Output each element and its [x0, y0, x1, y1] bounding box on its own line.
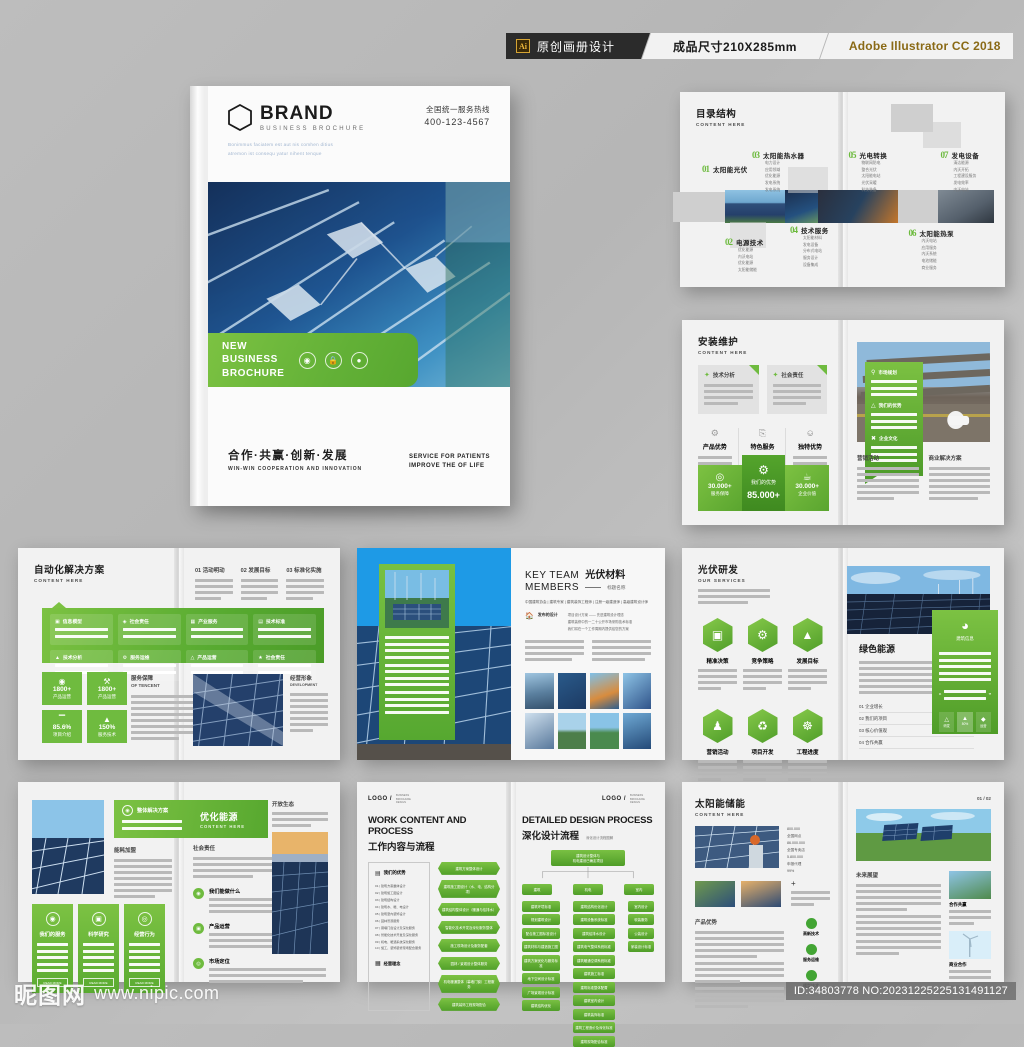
- box-icon: ▣: [55, 619, 60, 625]
- auto-stat-2: ⚒ 1800+ 产品运营: [87, 672, 127, 705]
- toc-item-03-l0: 电力设计: [765, 160, 804, 167]
- stat-2-value: 85.000+: [744, 490, 784, 500]
- toc-item-01[interactable]: 01 太阳能光伏: [702, 164, 748, 174]
- title-divider: [585, 587, 601, 588]
- auto-stat-3-caption: 项目介绍: [44, 732, 80, 738]
- process-box-footer: 经营理念: [384, 961, 401, 967]
- badge-size-label: 成品尺寸210X285mm: [673, 38, 797, 55]
- stat-box-3: ☕ 30.000+ 企业价值: [785, 465, 829, 511]
- chip-icon-3: ◆: [977, 716, 990, 723]
- optimize-right-head: 开放生态: [272, 800, 328, 808]
- process-logo-right: LOGO /: [602, 796, 626, 802]
- auto-stat-2-value: 1800+: [89, 686, 125, 693]
- install-card-1[interactable]: ✦ 技术分析: [698, 365, 759, 414]
- install-title-cn: 安装维护: [698, 334, 827, 348]
- process-box-item-2: 02 | 建筑施工图设计: [375, 890, 423, 897]
- toc-title-en: CONTENT HERE: [696, 122, 827, 127]
- flow-connectors: [522, 867, 654, 879]
- flow-c1-5[interactable]: 建筑方案优化与服务标准: [522, 955, 560, 971]
- optimize-bullet-3-label: 市场定位: [209, 958, 326, 965]
- auto-stat-1: ◉ 1800+ 产品运营: [42, 672, 82, 705]
- service-item-1-label: 精准决策: [698, 657, 737, 665]
- toc-item-02-l1: 内沃电站: [738, 254, 764, 261]
- toc-item-03[interactable]: 03 太阳能热水器 电力设计 应用领域 优化能源 发电系统 发电系统: [752, 150, 804, 193]
- auto-stat-4: ▲ 150% 服务技术: [87, 710, 127, 743]
- research-circle-icon: ▣: [92, 912, 106, 926]
- storage-stat-2-value: 86.000.000: [787, 840, 830, 847]
- process-step-3-label: 建筑结构整体设计（暖通与给排水）: [442, 908, 496, 912]
- hotline-label: 全国统一服务热线: [424, 104, 490, 115]
- flow-c2-8[interactable]: 建筑室内设计: [573, 995, 615, 1006]
- flow-c1-1[interactable]: 建筑环境标准: [522, 901, 560, 912]
- team-subtitle: 标题名称: [607, 585, 625, 591]
- leaf-icon: ✦: [704, 371, 710, 379]
- service-item-5[interactable]: ♻ 项目开发: [743, 709, 782, 784]
- team-green-panel: [379, 564, 455, 740]
- flow-branch-3[interactable]: 室内: [624, 884, 654, 895]
- flow-c2-6[interactable]: 建筑施工标准: [573, 968, 615, 979]
- toc-item-07-l0: 清洁能源: [954, 160, 980, 167]
- banner-item-1: 市场规划: [878, 370, 896, 376]
- services-title-cn: 光伏研发: [698, 562, 827, 576]
- stat-3-caption: 企业价值: [787, 491, 827, 497]
- panel-closeup-illustration: [32, 800, 104, 894]
- process-step-6[interactable]: 园林 / 景观设计整体服务: [438, 957, 500, 970]
- gear-icon-2: ⚙: [744, 463, 784, 477]
- storage-bullet-1[interactable]: 高新技术: [792, 918, 830, 937]
- flow-c2-10[interactable]: 建筑工程造价及深化标准: [573, 1022, 615, 1033]
- toc-item-05-num: 05: [849, 150, 856, 160]
- toc-item-04-l4: 设备集成: [803, 262, 829, 269]
- services-list-item-4[interactable]: 04 合作共赢: [859, 737, 974, 749]
- toc-placeholder-1: [673, 192, 725, 222]
- windmill-illustration: [949, 931, 991, 959]
- cover-slogan-cn: 合作·共赢·创新·发展: [228, 447, 362, 463]
- flow-c1-2[interactable]: 规划建筑设计: [522, 914, 560, 925]
- badge-size: 成品尺寸210X285mm: [651, 33, 819, 59]
- stat-1-value: 30.000+: [700, 483, 740, 490]
- responsibility-icon: ★: [258, 655, 262, 661]
- toc-item-02-l0: 优化能源: [738, 247, 764, 254]
- optimize-title-en: CONTENT HERE: [200, 824, 268, 829]
- quote-open-icon: “: [939, 693, 941, 700]
- flow-col-1: 建筑环境标准 规划建筑设计 配合施工图标准设计 建筑材料与建造施工图 建筑方案优…: [522, 901, 560, 1012]
- services-page-right: 绿色能源 01 企业增长 02 我们的项目 03 核心价值观 04 合作共赢 ◕…: [843, 548, 1004, 760]
- team-inset-photo: [385, 570, 449, 628]
- team-photo-6: [558, 713, 587, 749]
- project-icon: ♻: [748, 709, 778, 743]
- team-page-right: KEY TEAM 光伏材料 MEMBERS 标题名称 中国建筑协会 | 建筑专家…: [511, 548, 665, 760]
- cover-slogan-en: WIN-WIN COOPERATION AND INNOVATION: [228, 466, 362, 472]
- process-logo-left: LOGO /: [368, 796, 392, 802]
- team-bullet-2: 建筑装修中的一二十公开市场采购技术标准: [568, 619, 632, 626]
- service-item-5-label: 项目开发: [743, 748, 782, 756]
- process-box-title: 我们的优势: [384, 870, 406, 876]
- flow-c1-4[interactable]: 建筑材料与建造施工图: [522, 941, 560, 952]
- toc-item-07-num: 07: [941, 150, 948, 160]
- toc-item-06-num: 06: [909, 228, 916, 238]
- auto-card-1-label: 信息模型: [63, 618, 82, 625]
- optimize-card-1-label: 我们的服务: [37, 931, 68, 938]
- storage-stat-2-caption: 全国专卖店: [787, 847, 830, 854]
- tower-panel-illustration: [385, 570, 449, 628]
- process-box-item-1: 01 | 建筑方案整体设计: [375, 883, 423, 890]
- tools-icon: ⚒: [89, 677, 125, 686]
- cover-spine: [190, 86, 204, 506]
- service-item-3[interactable]: ▲ 发展目标: [788, 618, 827, 693]
- service-item-4[interactable]: ♟ 营销活动: [698, 709, 737, 784]
- chart-icon: ▤: [258, 619, 263, 625]
- storage-heading: 太阳能储能 CONTENT HERE: [695, 796, 830, 817]
- sunset-panels-illustration: [272, 832, 328, 954]
- green-block-arrow: [52, 602, 66, 608]
- process-left-title-en: WORK CONTENT AND PROCESS: [368, 815, 500, 837]
- headset-icon: ⎉: [793, 428, 827, 439]
- service-item-1[interactable]: ▣ 精准决策: [698, 618, 737, 693]
- process-logo-sub-left: BUSINESS BROCHURE DESIGN: [396, 794, 420, 805]
- toc-item-04-l3: 服务设计: [803, 255, 829, 262]
- cross-icon: ✖: [871, 435, 876, 442]
- flow-c3-1[interactable]: 室内设计: [628, 901, 654, 912]
- cover-title-line2: BUSINESS: [222, 353, 285, 366]
- flow-branch-2[interactable]: 机电: [573, 884, 603, 895]
- process-step-1-label: 建筑方案整体设计: [455, 867, 482, 871]
- services-chip-3-label: 运营: [977, 723, 990, 728]
- storage-bullet-2[interactable]: 服务运维: [792, 944, 830, 963]
- hotline-block: 全国统一服务热线 400-123-4567: [424, 104, 490, 127]
- flow-c2-3[interactable]: 建筑给排水设计: [573, 928, 615, 939]
- services-chip-1: △ 研发: [939, 712, 954, 732]
- flow-c1-3[interactable]: 配合施工图标准设计: [522, 928, 560, 939]
- toc-item-03-l1: 应用领域: [765, 167, 804, 174]
- auto-card-4[interactable]: ▤ 技术标准: [253, 614, 316, 645]
- spread-installation: 安装维护 CONTENT HERE ✦ 技术分析: [682, 320, 1004, 525]
- chip-icon-1: △: [940, 716, 953, 723]
- auto-stat-3: ▔ 85.6% 项目介绍: [42, 710, 82, 743]
- auto-card-4-label: 技术标准: [266, 618, 285, 625]
- team-photo-8: [623, 713, 652, 749]
- triangle-icon: △: [871, 402, 876, 409]
- toc-item-04-l0: 太阳能材料: [803, 235, 829, 242]
- toc-item-04-title: 技术服务: [801, 225, 829, 235]
- watermark-site-url: www.nipic.com: [94, 983, 220, 1004]
- toc-item-05-title: 光电转换: [860, 150, 888, 160]
- auto-stat-1-value: 1800+: [44, 686, 80, 693]
- toc-item-04-l1: 发电设备: [803, 242, 829, 249]
- bullet-icon-1: ◉: [193, 888, 204, 899]
- toc-heading: 目录结构 CONTENT HERE: [696, 106, 827, 127]
- storage-left-head: 产品优势: [695, 918, 784, 926]
- process-page-right: LOGO / BUSINESS BROCHURE DESIGN DETAILED…: [511, 782, 665, 982]
- auto-stat-4-caption: 服务技术: [89, 732, 125, 738]
- toc-item-02-l3: 太阳能储能: [738, 267, 764, 274]
- process-step-5[interactable]: 施工现场设计及服务配套: [438, 939, 500, 952]
- stat-box-2: ⚙ 我们的优势 85.000+: [742, 455, 786, 511]
- cover-green-panel: NEW BUSINESS BROCHURE ◉ 🔒 ●: [208, 333, 418, 387]
- bullet-dot-icon-2: [806, 944, 817, 955]
- storage-photo-3: [741, 881, 781, 907]
- storage-right-cards: 合作共赢 商业合作: [949, 871, 991, 988]
- monitor-icon: ⎘: [746, 428, 780, 439]
- process-step-7[interactable]: 机电暖通整体（幕墙门窗）工程服务: [438, 975, 500, 993]
- growth-icon: ▲: [793, 618, 823, 652]
- spread-storage: 太阳能储能 CONTENT HERE 800.0: [682, 782, 1004, 982]
- process-step-1[interactable]: 建筑方案整体设计: [438, 862, 500, 875]
- toc-item-05-l3: 光伏采暖: [862, 180, 888, 187]
- user-icon: ●: [351, 352, 368, 369]
- storage-stat-1-value: 800.000: [787, 826, 830, 833]
- team-photo-2: [558, 673, 587, 709]
- toc-item-07-title: 发电设备: [952, 150, 980, 160]
- toc-photo-3: [818, 190, 898, 223]
- corner-flag-icon: [749, 365, 759, 375]
- toc-item-06-l1: 应用服务: [922, 245, 955, 252]
- storage-right-head: 未来展望: [856, 871, 941, 879]
- toc-photo-1: [725, 190, 785, 223]
- services-heading: 光伏研发 OUR SERVICES: [698, 562, 827, 583]
- install-bottom-head-2: 商业解决方案: [929, 454, 991, 462]
- toc-item-05[interactable]: 05 光电转换 物联网防电 整合光伏 太阳能电站 光伏采暖 科技装备: [849, 150, 888, 193]
- services-chip-2-label: 80%: [958, 722, 971, 726]
- process-step-2-label: 建筑施工图设计（水、电、结构分项）: [444, 885, 495, 894]
- shield-icon: ◈: [123, 619, 127, 625]
- flow-c3-4[interactable]: 家装设计标准: [628, 941, 654, 952]
- banner-item-2: 我们的优势: [879, 403, 902, 409]
- toc-item-06-l0: 内沃电站: [922, 238, 955, 245]
- team-bullet-1: 项目设计方案 —— 先进建筑设计理念: [568, 612, 632, 619]
- service-item-4-label: 营销活动: [698, 748, 737, 756]
- toc-placeholder-5: [923, 122, 961, 148]
- team-photo-grid: [525, 673, 651, 749]
- team-badge: 发布的设计: [538, 612, 558, 618]
- toc-item-07-l3: 发电效率: [954, 180, 980, 187]
- storage-title-en: CONTENT HERE: [695, 812, 830, 817]
- storage-stat-4-value: 99%: [787, 868, 830, 875]
- storage-photo-1: [695, 826, 779, 868]
- flow-c2-9[interactable]: 建筑装饰标准: [573, 1009, 615, 1020]
- auto-heading: 自动化解决方案 CONTENT HERE: [34, 562, 163, 583]
- storage-stat-3-caption: 申报代理: [787, 861, 830, 868]
- toc-item-03-l2: 优化能源: [765, 173, 804, 180]
- storage-card-2-label: 商业合作: [949, 962, 991, 968]
- toc-title-cn: 目录结构: [696, 106, 827, 120]
- bullet-dot-icon-3: [806, 970, 817, 981]
- install-heading: 安装维护 CONTENT HERE: [698, 334, 827, 355]
- panels-field-illustration: [856, 809, 991, 861]
- services-chip-3: ◆ 运营: [976, 712, 991, 732]
- team-photo-7: [590, 713, 619, 749]
- engineer-illustration: [695, 826, 779, 868]
- toc-item-03-title: 太阳能热水器: [763, 150, 804, 160]
- services-panel-title: 建筑信息: [939, 636, 991, 642]
- install-card-2-label: 社会责任: [781, 371, 803, 379]
- toc-item-04-l2: 分布式电站: [803, 248, 829, 255]
- process-step-6-label: 园林 / 景观设计整体服务: [451, 962, 488, 966]
- process-box-item-9: 09 | 机电、暖通系统深化服务: [375, 939, 423, 946]
- flow-c3-3[interactable]: 公装设计: [628, 928, 654, 939]
- hexagon-logo-icon: [228, 104, 252, 131]
- flow-col-2: 建筑结构优化设计 建筑设备系统标准 建筑给排水设计 建筑电气整体系统标准 建筑暖…: [573, 901, 615, 1047]
- cover-title-line3: BROCHURE: [222, 367, 285, 380]
- spread-process: LOGO / BUSINESS BROCHURE DESIGN WORK CON…: [357, 782, 665, 982]
- services-green-panel: ◕ 建筑信息 “ ” △ 研发 ▲ 80%: [932, 610, 998, 734]
- flow-c2-1[interactable]: 建筑结构优化设计: [573, 901, 615, 912]
- process-step-8-label: 建筑装饰工程现场配合: [452, 1003, 486, 1007]
- process-steps: 建筑方案整体设计 建筑施工图设计（水、电、结构分项） 建筑结构整体设计（暖通与给…: [438, 862, 500, 1011]
- quote-close-icon: ”: [989, 693, 991, 700]
- bullet-icon-2: ▣: [193, 923, 204, 934]
- process-step-8[interactable]: 建筑装饰工程现场配合: [438, 998, 500, 1011]
- storage-card-1-label: 合作共赢: [949, 902, 991, 908]
- storage-stat-3-value: 5.800.000: [787, 854, 830, 861]
- auto-head-1: 01 活动明动: [195, 566, 233, 574]
- toc-item-03-num: 03: [752, 150, 759, 160]
- auto-stat-1-caption: 产品运营: [44, 694, 80, 700]
- toc-item-03-l3: 发电系统: [765, 180, 804, 187]
- flow-c2-5[interactable]: 建筑暖通空调系统标准: [573, 955, 615, 966]
- flow-c1-7[interactable]: 广场景观设计标准: [522, 987, 560, 998]
- toc-item-02-title: 电源技术: [736, 237, 764, 247]
- lock-icon: 🔒: [325, 352, 342, 369]
- globe-icon-2: ◉: [44, 677, 80, 686]
- auto-card-3[interactable]: ▦ 产业服务: [186, 614, 249, 645]
- storage-card-photo-1: [949, 871, 991, 899]
- toc-item-06-l2: 内沃系统: [922, 251, 955, 258]
- toc-item-05-l2: 太阳能电站: [862, 173, 888, 180]
- toc-item-07-l2: 工程建设服务: [954, 173, 980, 180]
- toc-item-04[interactable]: 04 技术服务 太阳能材料 发电设备 分布式电站 服务设计 设备集成: [790, 225, 829, 268]
- cover-service-line1: SERVICE FOR PATIENTS: [409, 453, 490, 463]
- toc-item-06-l3: 电池储能: [922, 258, 955, 265]
- toc-photo-4: [938, 190, 994, 223]
- process-box-item-3: 03 | 建筑结构设计: [375, 897, 423, 904]
- team-photo-3: [590, 673, 619, 709]
- spread-optimize: ◉ 我们的服务 READ MORE ▣ 科学研究 READ MORE ◎ 经营行…: [18, 782, 340, 982]
- toc-item-06[interactable]: 06 太阳能热泵 内沃电站 应用服务 内沃系统 电池储能 商业服务: [909, 228, 955, 271]
- stat-1-caption: 服务保障: [700, 491, 740, 497]
- storage-stat-1-caption: 全国网点: [787, 833, 830, 840]
- flow-c2-11[interactable]: 建筑现场配合标准: [573, 1036, 615, 1047]
- toc-item-01-num: 01: [702, 164, 709, 174]
- install-page-right: ⚲ 市场规划 △ 我们的优势 ✖ 企业文化: [843, 320, 1004, 525]
- hotline-number: 400-123-4567: [424, 117, 490, 127]
- toc-item-05-l0: 物联网防电: [862, 160, 888, 167]
- service-item-3-label: 发展目标: [788, 657, 827, 665]
- badge-software: Adobe Illustrator CC 2018: [829, 33, 1013, 59]
- analytics-icon: ▲: [55, 655, 60, 661]
- progress-icon: ☸: [793, 709, 823, 743]
- auto-card-1[interactable]: ▣ 信息模型: [50, 614, 113, 645]
- flow-c2-2[interactable]: 建筑设备系统标准: [573, 914, 615, 925]
- storage-page-left: 太阳能储能 CONTENT HERE 800.0: [682, 782, 843, 982]
- auto-stat-3-value: 85.6%: [44, 724, 80, 731]
- stat-3-value: 30.000+: [787, 483, 827, 490]
- toc-item-07[interactable]: 07 发电设备 清洁能源 内沃开拓 工程建设服务 发电效率 内沃电站: [941, 150, 980, 193]
- auto-green-block: ▣ 信息模型 ◈ 社会责任 ▦ 产业服务 ▤ 技术标准: [42, 608, 324, 663]
- service-circle-icon: ◉: [46, 912, 60, 926]
- spread-table-of-contents: 目录结构 CONTENT HERE 01 太阳能光伏 02 电源技术: [680, 92, 1005, 287]
- solution-icon: ◉: [122, 805, 133, 816]
- install-page-left: 安装维护 CONTENT HERE ✦ 技术分析: [682, 320, 843, 525]
- flow-c3-2[interactable]: 软装服务: [628, 914, 654, 925]
- flow-c2-4[interactable]: 建筑电气整体系统标准: [573, 941, 615, 952]
- flow-c1-6[interactable]: 地下空间设计标准: [522, 973, 560, 984]
- team-title-en-2: MEMBERS: [525, 582, 579, 593]
- flow-root: 建筑设计整体与 机电建设已确定项目: [551, 850, 625, 866]
- process-step-4[interactable]: 智能化技术开发及深化服务整体: [438, 921, 500, 934]
- concept-icon: ▦: [375, 960, 381, 967]
- watermark-site-cn: 昵图网: [14, 976, 86, 1010]
- optimize-card-2-label: 科学研究: [83, 931, 114, 938]
- flow-branch-1[interactable]: 建筑: [522, 884, 552, 895]
- flow-c1-8[interactable]: 建筑结构优化: [522, 1000, 560, 1011]
- auto-card-2[interactable]: ◈ 社会责任: [118, 614, 181, 645]
- service-item-6[interactable]: ☸ 工程进度: [788, 709, 827, 784]
- target-icon: ◎: [700, 472, 740, 483]
- auto-stat-4-value: 150%: [89, 724, 125, 731]
- storage-bullet-2-label: 服务运维: [792, 957, 830, 963]
- cover-title-line1: NEW: [222, 340, 285, 353]
- illustrator-icon: Ai: [516, 39, 530, 53]
- flow-c2-7[interactable]: 建筑标准整体配置: [573, 982, 615, 993]
- toc-item-07-l4: 内沃电站: [954, 187, 980, 194]
- auto-card-5-label: 技术分析: [63, 654, 82, 661]
- process-step-7-label: 机电暖通整体（幕墙门窗）工程服务: [444, 980, 495, 989]
- advantage-icon: ▤: [375, 870, 381, 877]
- process-step-3[interactable]: 建筑结构整体设计（暖通与给排水）: [438, 903, 500, 916]
- process-right-title-sub: 深化设计流程图解: [586, 835, 613, 840]
- install-col-2-title: 特色服务: [746, 442, 780, 451]
- process-box-item-4: 04 | 建筑水、暖、电设计: [375, 904, 423, 911]
- badge-software-label: Adobe Illustrator CC 2018: [849, 39, 1001, 53]
- toc-item-06-title: 太阳能热泵: [920, 228, 955, 238]
- cover-service-line2: IMPROVE THE OF LIFE: [409, 462, 490, 472]
- install-title-en: CONTENT HERE: [698, 350, 827, 355]
- install-bottom-head-1: 营销活动: [857, 454, 919, 462]
- badge-original: Ai 原创画册设计: [506, 33, 641, 59]
- storage-stats: 800.000 全国网点 86.000.000 全国专卖店 5.800.000 …: [787, 826, 830, 875]
- team-title-cn: 光伏材料: [585, 566, 625, 581]
- rocket-icon: ▲: [89, 715, 125, 724]
- toc-item-01-title: 太阳能光伏: [713, 164, 748, 174]
- toc-item-02-num: 02: [725, 237, 732, 247]
- auto-card-7-label: 产品运营: [197, 654, 216, 661]
- services-chip-2: ▲ 80%: [957, 712, 972, 732]
- process-step-2[interactable]: 建筑施工图设计（水、电、结构分项）: [438, 880, 500, 898]
- process-logo-sub-right: BUSINESS BROCHURE DESIGN: [630, 794, 654, 805]
- install-col-3-title: 独特优势: [793, 442, 827, 451]
- mockup-canvas: Ai 原创画册设计 成品尺寸210X285mm Adobe Illustrato…: [0, 0, 1024, 1024]
- service-item-2[interactable]: ⚙ 竞争策略: [743, 618, 782, 693]
- toc-item-02[interactable]: 02 电源技术 优化能源 内沃电站 优化能源 太阳能储能: [725, 237, 764, 274]
- storage-title-cn: 太阳能储能: [695, 796, 830, 810]
- service-item-2-label: 竞争策略: [743, 657, 782, 665]
- install-card-2[interactable]: ✦ 社会责任: [767, 365, 828, 414]
- auto-title-en: CONTENT HERE: [34, 578, 163, 583]
- auto-card-8-label: 社会责任: [266, 654, 285, 661]
- cover-title: NEW BUSINESS BROCHURE: [208, 340, 285, 380]
- grid-icon: ▦: [191, 619, 196, 625]
- team-photo-5: [525, 713, 554, 749]
- operation-circle-icon: ◎: [138, 912, 152, 926]
- optimize-card-3-label: 经营行为: [129, 931, 160, 938]
- team-photo-4: [623, 673, 652, 709]
- team-title-en-1: KEY TEAM: [525, 570, 579, 581]
- toc-item-05-l4: 科技装备: [862, 187, 888, 194]
- auto-head-2: 02 发展目标: [241, 566, 279, 574]
- optimize-green-banner: ◉ 整体解决方案 优化能源 CONTENT HERE: [114, 800, 268, 838]
- process-box-item-7: 07 | 幕墙门窗设计及深化服务: [375, 925, 423, 932]
